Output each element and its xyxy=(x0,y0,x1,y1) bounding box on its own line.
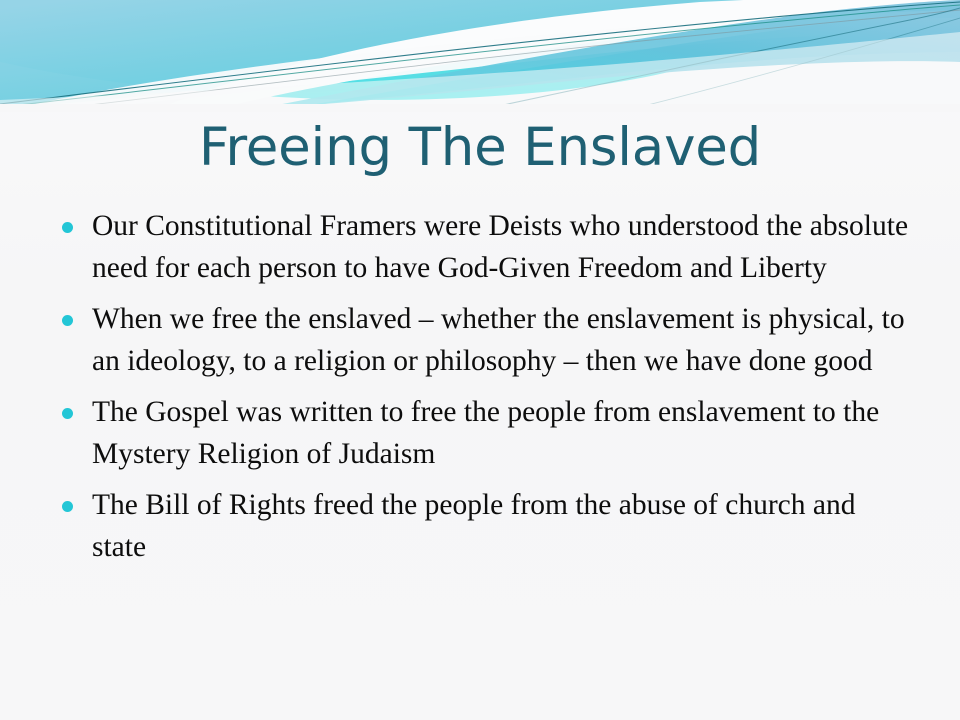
bullet-text: Our Constitutional Framers were Deists w… xyxy=(92,206,916,289)
slide-title: Freeing The Enslaved xyxy=(60,118,900,178)
list-item: Our Constitutional Framers were Deists w… xyxy=(56,206,916,289)
bullet-text: When we free the enslaved – whether the … xyxy=(92,299,916,382)
bullet-marker-icon xyxy=(62,408,73,419)
bullet-marker-icon xyxy=(62,222,73,233)
header-wave-graphic xyxy=(0,0,960,112)
bullet-marker-icon xyxy=(62,501,73,512)
bullet-text: The Bill of Rights freed the people from… xyxy=(92,485,916,568)
list-item: When we free the enslaved – whether the … xyxy=(56,299,916,382)
slide-bullet-list: Our Constitutional Framers were Deists w… xyxy=(56,206,916,578)
list-item: The Gospel was written to free the peopl… xyxy=(56,392,916,475)
presentation-slide: Freeing The Enslaved Our Constitutional … xyxy=(0,0,960,720)
bullet-text: The Gospel was written to free the peopl… xyxy=(92,392,916,475)
bullet-marker-icon xyxy=(62,315,73,326)
list-item: The Bill of Rights freed the people from… xyxy=(56,485,916,568)
